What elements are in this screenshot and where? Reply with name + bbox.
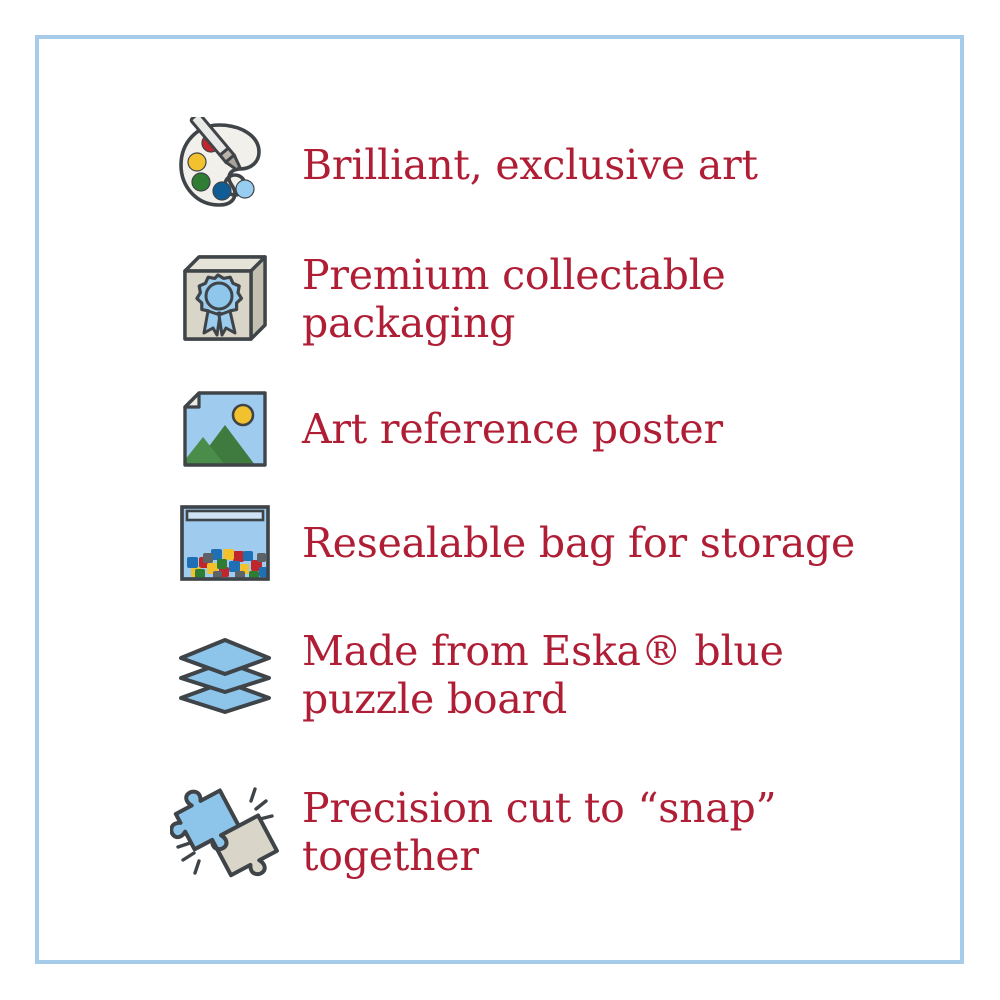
feature-icon-slot (170, 501, 280, 585)
infographic-canvas: Brilliant, exclusive art (0, 0, 1000, 1000)
stacked-board-icon (173, 632, 277, 718)
feature-list: Brilliant, exclusive art (0, 0, 1000, 1000)
puzzle-pieces-snap-icon (170, 777, 280, 887)
feature-item-brilliant-exclusive-art: Brilliant, exclusive art (170, 122, 930, 208)
feature-item-precision-cut-to-snap-together: Precision cut to “snap” together (170, 772, 930, 892)
feature-icon-slot (170, 117, 280, 213)
feature-label: Brilliant, exclusive art (280, 141, 930, 189)
feature-item-premium-collectable-packaging: Premium collectable packaging (170, 243, 930, 355)
feature-label: Made from Eska® blue puzzle board (280, 627, 930, 724)
poster-image-icon (177, 387, 273, 471)
resealable-bag-icon (173, 501, 277, 585)
feature-item-art-reference-poster: Art reference poster (170, 386, 930, 472)
feature-icon-slot (170, 777, 280, 887)
feature-icon-slot (170, 387, 280, 471)
feature-label: Art reference poster (280, 405, 930, 453)
feature-item-made-from-eska-blue-puzzle-board: Made from Eska® blue puzzle board (170, 620, 930, 730)
feature-icon-slot (170, 249, 280, 349)
feature-item-resealable-bag-for-storage: Resealable bag for storage (170, 498, 930, 588)
paint-palette-icon (173, 117, 277, 213)
premium-box-icon (177, 249, 273, 349)
feature-label: Premium collectable packaging (280, 251, 930, 348)
feature-icon-slot (170, 632, 280, 718)
feature-label: Resealable bag for storage (280, 519, 930, 567)
feature-label: Precision cut to “snap” together (280, 784, 930, 881)
